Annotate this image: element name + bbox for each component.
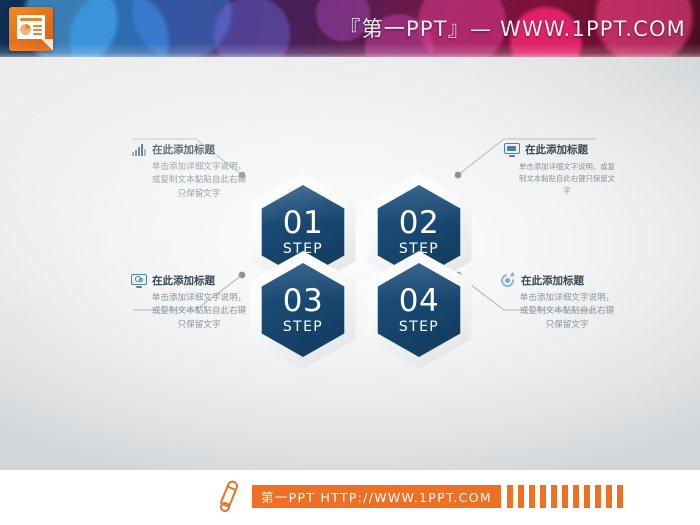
text-block-header-01: 在此添加标题 [131, 141, 249, 158]
text-block-title-02: 在此添加标题 [525, 142, 588, 157]
text-block-body-03: 单击添加详细文字说明，或复制文本黏贴自此右键只保留文字 [131, 292, 249, 332]
footer-bar: 第一PPT HTTP://WWW.1PPT.COM [0, 470, 700, 525]
text-block-title-01: 在此添加标题 [152, 142, 215, 157]
logo-fold [41, 39, 53, 51]
text-block-step-01[interactable]: 在此添加标题 单击添加详细文字说明，或复制文本黏贴自此右键只保留文字 [131, 141, 249, 201]
bar-chart-icon [131, 143, 147, 157]
powerpoint-logo-icon [9, 7, 53, 51]
text-block-step-03[interactable]: 在此添加标题 单击添加详细文字说明，或复制文本黏贴自此右键只保留文字 [131, 272, 249, 332]
text-block-title-03: 在此添加标题 [152, 273, 215, 288]
hexagon-step-03[interactable]: 03 STEP [242, 251, 364, 369]
hexagon-label-03: 03 STEP [255, 263, 351, 357]
text-block-step-02[interactable]: 在此添加标题 单击添加详细文字说明，或复制文本黏贴自此右键只保留文字 [504, 141, 616, 197]
text-block-header-04: 在此添加标题 [500, 272, 618, 289]
text-block-title-04: 在此添加标题 [521, 273, 584, 288]
text-block-header-02: 在此添加标题 [504, 141, 616, 158]
hexagon-number-03: 03 [283, 286, 323, 317]
footer-bar-stripes [507, 485, 628, 508]
text-block-body-01: 单击添加详细文字说明，或复制文本黏贴自此右键只保留文字 [131, 161, 249, 201]
hexagon-number-01: 01 [283, 208, 323, 239]
logo-document [17, 15, 45, 39]
slide-root: 『第一PPT』— WWW.1PPT.COM 01 STEP [0, 0, 700, 525]
hexagon-step-text-04: STEP [399, 320, 439, 334]
logo-line-1 [33, 25, 42, 27]
text-block-step-04[interactable]: 在此添加标题 单击添加详细文字说明，或复制文本黏贴自此右键只保留文字 [500, 272, 618, 332]
hexagon-number-02: 02 [399, 208, 439, 239]
refresh-circle-icon [500, 274, 516, 288]
text-block-body-02: 单击添加详细文字说明，或复制文本黏贴自此右键只保留文字 [504, 161, 616, 197]
top-banner: 『第一PPT』— WWW.1PPT.COM [0, 0, 700, 57]
pen-icon [216, 480, 246, 514]
hexagon-label-04: 04 STEP [371, 263, 467, 357]
banner-brand-text: 『第一PPT』— WWW.1PPT.COM [339, 13, 686, 43]
logo-doc-header [20, 18, 42, 21]
text-block-body-04: 单击添加详细文字说明，或复制文本黏贴自此右键只保留文字 [500, 292, 618, 332]
monitor-settings-icon [131, 274, 147, 288]
hexagon-step-04[interactable]: 04 STEP [358, 251, 480, 369]
hexagon-number-04: 04 [399, 286, 439, 317]
text-block-header-03: 在此添加标题 [131, 272, 249, 289]
slide-canvas: 01 STEP 02 STEP 03 STEP [0, 57, 700, 470]
logo-pie-icon [20, 24, 31, 35]
footer-strip: 第一PPT HTTP://WWW.1PPT.COM [252, 485, 628, 508]
logo-line-2 [33, 29, 42, 31]
banner-bottom-glow [0, 43, 700, 57]
hexagon-step-text-03: STEP [283, 320, 323, 334]
monitor-icon [504, 143, 520, 157]
footer-url-text: 第一PPT HTTP://WWW.1PPT.COM [252, 485, 501, 508]
logo-line-3 [33, 33, 42, 35]
